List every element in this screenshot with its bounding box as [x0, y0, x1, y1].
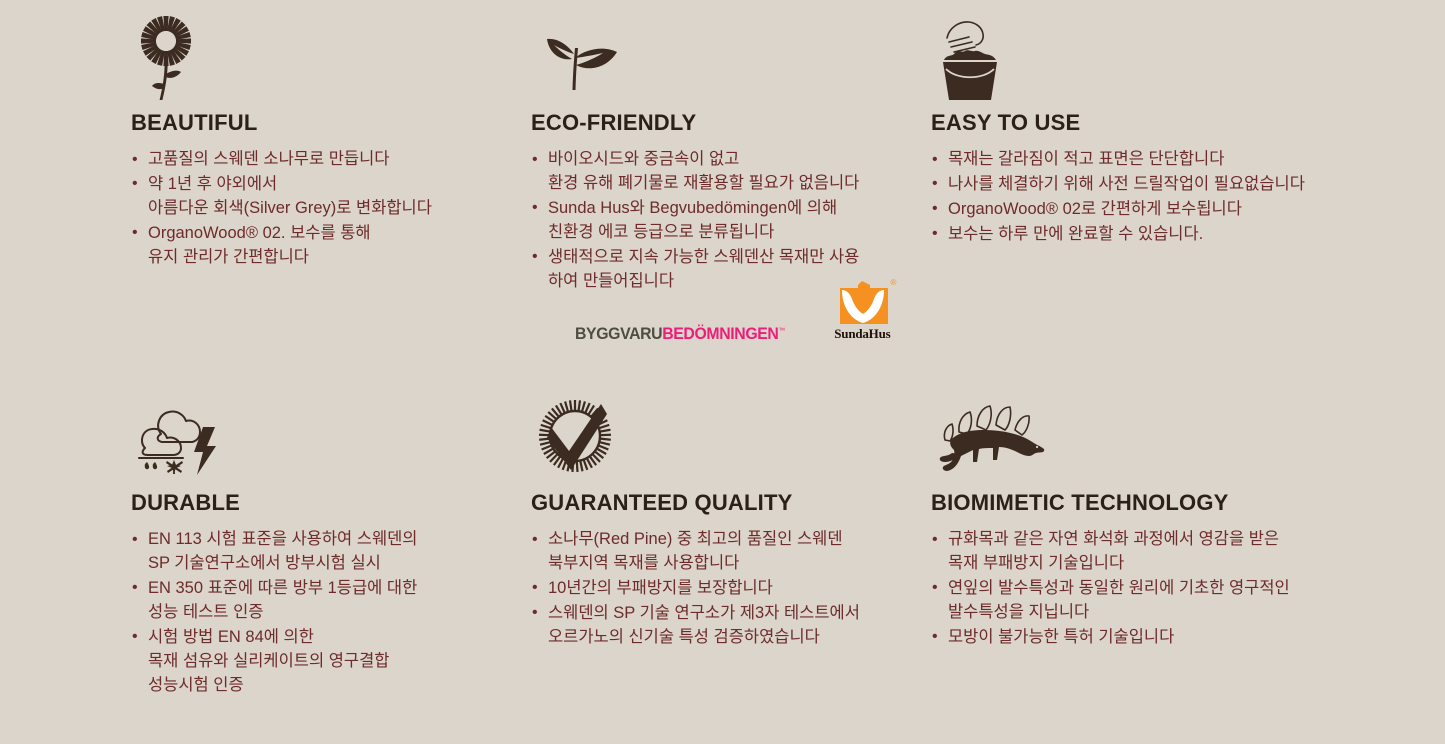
feature-bullet-list: •고품질의 스웨덴 소나무로 만듭니다 •약 1년 후 야외에서 아름다운 회색… — [131, 148, 521, 270]
list-item: •Sunda Hus와 Begvubedömingen에 의해 친환경 에코 등… — [531, 197, 926, 245]
list-item: •시험 방법 EN 84에 의한 목재 섬유와 실리케이트의 영구결합 성능시험… — [131, 626, 521, 698]
feature-card-eco-friendly: ECO-FRIENDLY •바이오시드와 중금속이 없고 환경 유해 폐기물로 … — [531, 8, 926, 295]
bullet-marker: • — [132, 576, 138, 599]
flower-icon — [131, 8, 521, 104]
list-item: •고품질의 스웨덴 소나무로 만듭니다 — [131, 148, 521, 172]
stegosaurus-icon — [931, 388, 1401, 484]
list-item: •약 1년 후 야외에서 아름다운 회색(Silver Grey)로 변화합니다 — [131, 173, 521, 221]
bullet-marker: • — [932, 528, 938, 551]
feature-card-beautiful: BEAUTIFUL •고품질의 스웨덴 소나무로 만듭니다 •약 1년 후 야외… — [131, 8, 521, 271]
trademark-mark: ™ — [778, 327, 784, 334]
list-item: •스웨덴의 SP 기술 연구소가 제3자 테스트에서 오르가노의 신기술 특성 … — [531, 602, 926, 650]
feature-title: GUARANTEED QUALITY — [531, 490, 926, 516]
bullet-marker: • — [932, 625, 938, 648]
sundahus-logo: ® SundaHus — [830, 280, 894, 342]
feature-bullet-list: •바이오시드와 중금속이 없고 환경 유해 폐기물로 재활용할 필요가 없음니다… — [531, 148, 926, 294]
bullet-marker: • — [932, 222, 938, 245]
bullet-marker: • — [132, 625, 138, 648]
certification-logos: BYGGVARUBEDÖMNINGEN™ ® SundaHus — [575, 280, 894, 342]
checkmark-badge-icon — [531, 388, 926, 484]
list-item: •목재는 갈라짐이 적고 표면은 단단합니다 — [931, 148, 1401, 172]
feature-card-biomimetic-technology: BIOMIMETIC TECHNOLOGY •규화목과 같은 자연 화석화 과정… — [931, 388, 1401, 651]
sundahus-wordmark: SundaHus — [834, 326, 890, 342]
weather-cloud-lightning-icon — [131, 388, 521, 484]
byggvarubedomningen-logo: BYGGVARUBEDÖMNINGEN™ — [575, 325, 785, 342]
feature-bullet-list: •규화목과 같은 자연 화석화 과정에서 영감을 받은 목재 부패방지 기술입니… — [931, 528, 1401, 650]
bullet-marker: • — [532, 601, 538, 624]
list-item: •바이오시드와 중금속이 없고 환경 유해 폐기물로 재활용할 필요가 없음니다 — [531, 148, 926, 196]
list-item: •규화목과 같은 자연 화석화 과정에서 영감을 받은 목재 부패방지 기술입니… — [931, 528, 1401, 576]
feature-title: EASY TO USE — [931, 110, 1401, 136]
byggvarubedomningen-part-a: BYGGVARU — [575, 324, 662, 343]
feature-title: BEAUTIFUL — [131, 110, 521, 136]
sundahus-house-mark: ® — [830, 280, 894, 325]
bullet-marker: • — [132, 172, 138, 195]
list-item: •보수는 하루 만에 완료할 수 있습니다. — [931, 223, 1401, 247]
feature-card-easy-to-use: EASY TO USE •목재는 갈라짐이 적고 표면은 단단합니다 •나사를 … — [931, 8, 1401, 248]
list-item: •OrganoWood® 02. 보수를 통해 유지 관리가 간편합니다 — [131, 222, 521, 270]
feature-card-durable: DURABLE •EN 113 시험 표준을 사용하여 스웨덴의 SP 기술연구… — [131, 388, 521, 698]
list-item: •소나무(Red Pine) 중 최고의 품질인 스웨덴 북부지역 목재를 사용… — [531, 528, 926, 576]
bullet-marker: • — [132, 148, 138, 171]
leaf-sprout-icon — [531, 8, 926, 104]
feature-bullet-list: •EN 113 시험 표준을 사용하여 스웨덴의 SP 기술연구소에서 방부시험… — [131, 528, 521, 697]
feature-title: DURABLE — [131, 490, 521, 516]
list-item: •나사를 체결하기 위해 사전 드릴작업이 필요없습니다 — [931, 173, 1401, 197]
list-item: •EN 113 시험 표준을 사용하여 스웨덴의 SP 기술연구소에서 방부시험… — [131, 528, 521, 576]
bucket-hand-icon — [931, 8, 1401, 104]
bullet-marker: • — [532, 528, 538, 551]
list-item: •모방이 불가능한 특허 기술입니다 — [931, 626, 1401, 650]
bullet-marker: • — [932, 148, 938, 171]
list-item: •연잎의 발수특성과 동일한 원리에 기초한 영구적인 발수특성을 지닙니다 — [931, 577, 1401, 625]
bullet-marker: • — [532, 148, 538, 171]
bullet-marker: • — [532, 196, 538, 219]
feature-grid: BEAUTIFUL •고품질의 스웨덴 소나무로 만듭니다 •약 1년 후 야외… — [0, 0, 1445, 744]
feature-bullet-list: •소나무(Red Pine) 중 최고의 품질인 스웨덴 북부지역 목재를 사용… — [531, 528, 926, 650]
registered-mark: ® — [890, 278, 896, 287]
bullet-marker: • — [532, 576, 538, 599]
bullet-marker: • — [932, 576, 938, 599]
feature-title: ECO-FRIENDLY — [531, 110, 926, 136]
bullet-marker: • — [132, 528, 138, 551]
byggvarubedomningen-part-b: BEDÖMNINGEN — [662, 324, 778, 343]
bullet-marker: • — [932, 172, 938, 195]
list-item: •EN 350 표준에 따른 방부 1등급에 대한 성능 테스트 인증 — [131, 577, 521, 625]
bullet-marker: • — [932, 197, 938, 220]
bullet-marker: • — [132, 221, 138, 244]
feature-bullet-list: •목재는 갈라짐이 적고 표면은 단단합니다 •나사를 체결하기 위해 사전 드… — [931, 148, 1401, 247]
feature-title: BIOMIMETIC TECHNOLOGY — [931, 490, 1401, 516]
bullet-marker: • — [532, 245, 538, 268]
list-item: •10년간의 부패방지를 보장합니다 — [531, 577, 926, 601]
list-item: •OrganoWood® 02로 간편하게 보수됩니다 — [931, 198, 1401, 222]
feature-card-guaranteed-quality: GUARANTEED QUALITY •소나무(Red Pine) 중 최고의 … — [531, 388, 926, 651]
